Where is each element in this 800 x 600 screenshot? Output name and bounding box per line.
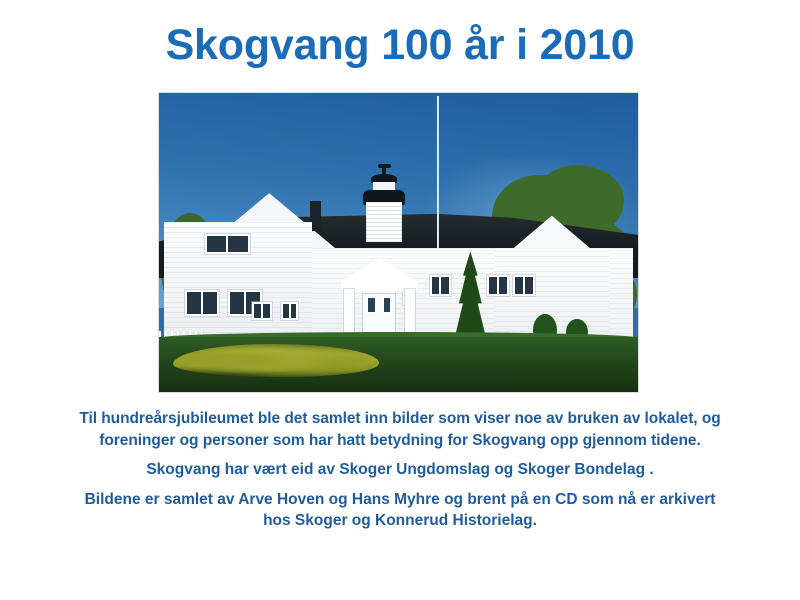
window-right-of-porch	[430, 275, 452, 296]
body-text: Til hundreårsjubileumet ble det samlet i…	[76, 408, 724, 532]
photo-frame	[158, 92, 639, 393]
cupola-louvers	[366, 202, 402, 242]
window-right-wing-b	[513, 275, 535, 296]
window-right-wing-a	[487, 275, 509, 296]
skogvang-building-photo	[159, 93, 638, 392]
window-lower-left	[185, 290, 219, 315]
slide: Skogvang 100 år i 2010	[0, 0, 800, 600]
paragraph-1: Til hundreårsjubileumet ble det samlet i…	[76, 408, 724, 451]
entrance-porch	[341, 257, 418, 341]
window-upper-left	[205, 234, 251, 255]
paragraph-2: Skogvang har vært eid av Skoger Ungdomsl…	[76, 459, 724, 481]
window-mid-left	[252, 302, 271, 320]
window-mid-center	[281, 302, 298, 320]
shrub-bed	[173, 344, 379, 377]
page-title: Skogvang 100 år i 2010	[0, 22, 800, 69]
paragraph-3: Bildene er samlet av Arve Hoven og Hans …	[76, 489, 724, 532]
cupola-tower	[363, 165, 406, 243]
porch-gable	[341, 257, 418, 290]
